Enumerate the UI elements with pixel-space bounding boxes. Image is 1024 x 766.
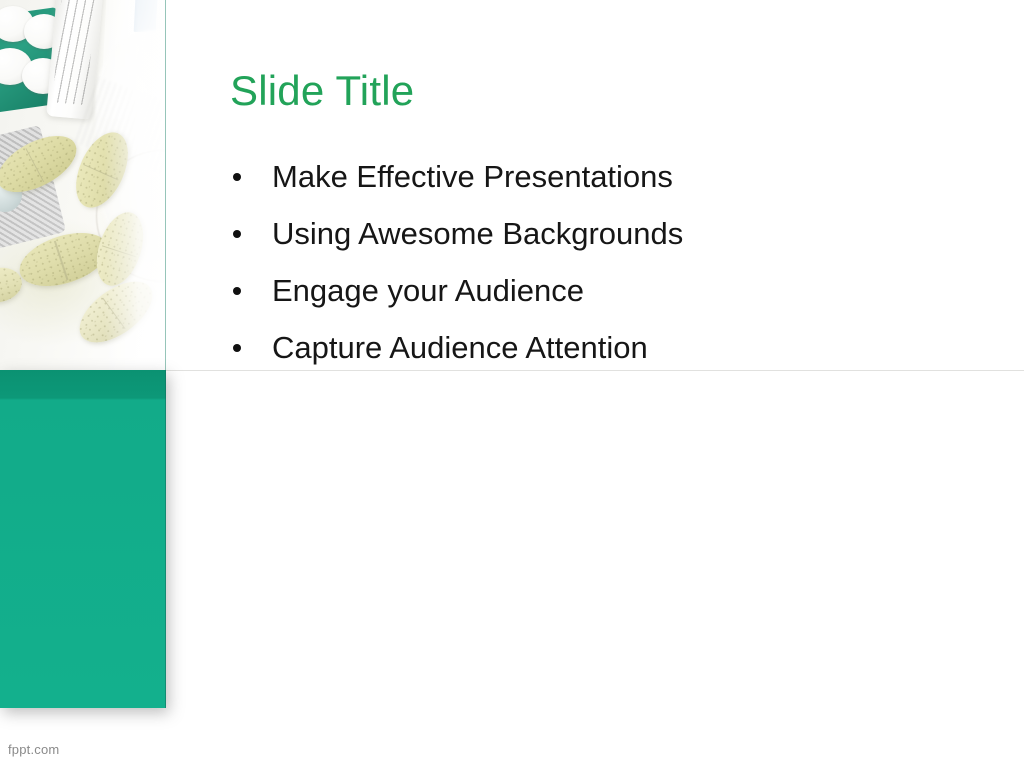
list-item-label: Using Awesome Backgrounds (272, 216, 683, 251)
bullet-dot-icon (233, 344, 241, 352)
bullet-dot-icon (233, 287, 241, 295)
list-item[interactable]: Engage your Audience (230, 262, 930, 319)
list-item[interactable]: Make Effective Presentations (230, 148, 930, 205)
list-item[interactable]: Capture Audience Attention (230, 319, 930, 376)
footer-watermark: fppt.com (8, 742, 59, 758)
bullet-list: Make Effective Presentations Using Aweso… (230, 148, 930, 376)
presentation-slide: Slide Title Make Effective Presentations… (0, 0, 1024, 766)
photo-vertical-divider (165, 0, 166, 371)
list-item-label: Capture Audience Attention (272, 330, 648, 365)
bottle-label-text (52, 0, 95, 105)
pills-photo-panel (0, 0, 166, 370)
list-item[interactable]: Using Awesome Backgrounds (230, 205, 930, 262)
page-title[interactable]: Slide Title (230, 66, 414, 116)
teal-accent-block (0, 370, 166, 708)
photo-surface (0, 0, 166, 370)
photo-right-fade (104, 0, 166, 370)
teal-block-edge (165, 370, 166, 708)
bullet-dot-icon (233, 230, 241, 238)
list-item-label: Make Effective Presentations (272, 159, 673, 194)
list-item-label: Engage your Audience (272, 273, 584, 308)
bullet-dot-icon (233, 173, 241, 181)
